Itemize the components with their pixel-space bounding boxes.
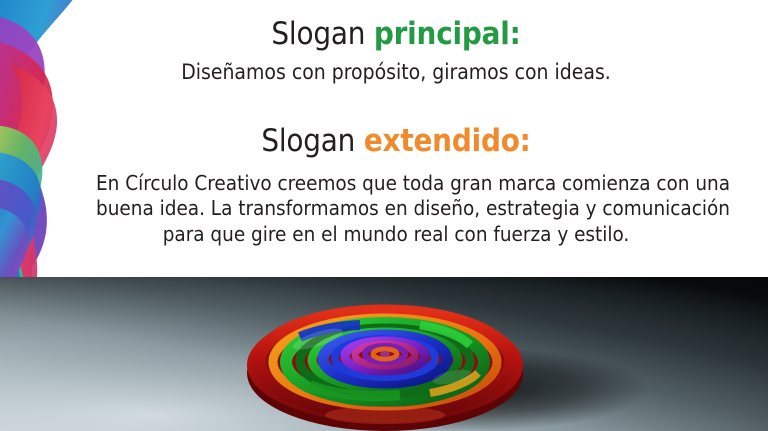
slogan-extendido-line: para que gire en el mundo real con fuerz… [96, 222, 696, 247]
slogan-principal-heading-prefix: Slogan [271, 16, 373, 52]
text-block: Slogan principal: Diseñamos con propósit… [96, 0, 696, 277]
slogan-principal-text: Diseñamos con propósito, giramos con ide… [96, 60, 696, 84]
bottom-photo-band [0, 277, 768, 431]
top-content-area: Slogan principal: Diseñamos con propósit… [0, 0, 768, 277]
slogan-principal-heading: Slogan principal: [96, 18, 696, 51]
slogan-extendido-line: buena idea. La transformamos en diseño, … [96, 196, 696, 221]
slide-canvas: Slogan principal: Diseñamos con propósit… [0, 0, 768, 431]
slogan-extendido-heading-prefix: Slogan [261, 123, 363, 159]
rainbow-spiral-render [0, 277, 768, 431]
slogan-extendido-heading: Slogan extendido: [96, 125, 696, 158]
colorful-ribbon-graphic [0, 0, 104, 277]
slogan-principal-heading-accent: principal: [374, 16, 521, 52]
slogan-extendido-text: En Círculo Creativo creemos que toda gra… [96, 171, 696, 247]
slogan-extendido-heading-accent: extendido: [364, 123, 531, 159]
slogan-extendido-line: En Círculo Creativo creemos que toda gra… [96, 171, 696, 196]
